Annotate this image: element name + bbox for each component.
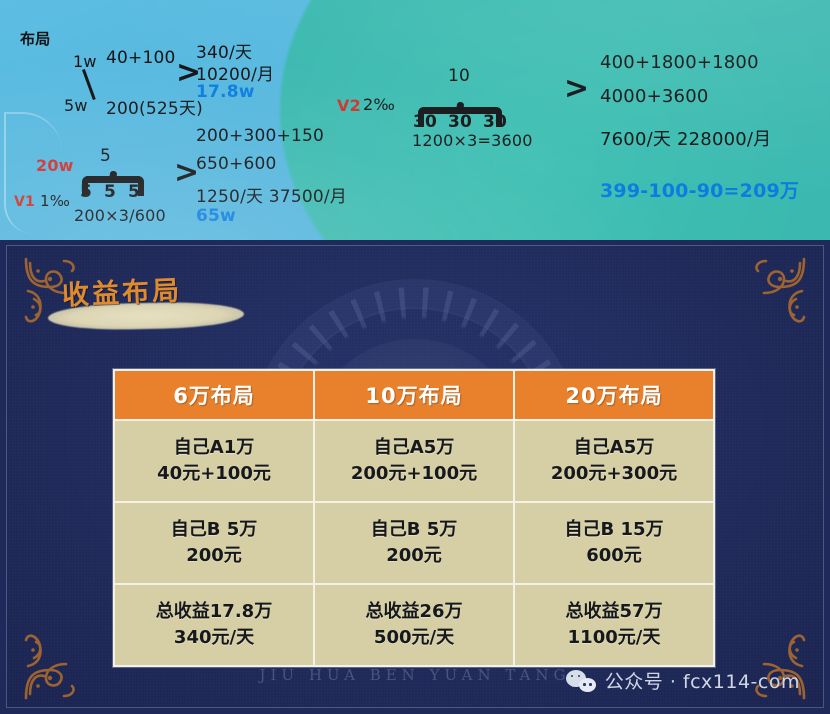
cell-line-2: 200元 <box>319 543 509 569</box>
cell-line-1: 自己A5万 <box>574 437 654 458</box>
g1-result-total: 17.8w <box>196 82 255 102</box>
table-row: 自己A1万 40元+100元 自己A5万 200元+100元 自己A5万 200… <box>114 420 714 502</box>
cell-line-2: 1100元/天 <box>519 625 709 651</box>
corner-ornament-icon <box>20 622 92 704</box>
table-header-cell: 20万布局 <box>514 370 714 420</box>
cell-line-2: 340元/天 <box>119 625 309 651</box>
table-cell: 自己B 15万 600元 <box>514 502 714 584</box>
cell-line-2: 200元+100元 <box>319 461 509 487</box>
g3-bracket <box>418 107 502 127</box>
table-cell: 自己B 5万 200元 <box>314 502 514 584</box>
cell-line-2: 200元 <box>119 543 309 569</box>
g2-result1: 200+300+150 <box>196 126 324 146</box>
g2-result3: 1250/天 37500/月 <box>196 182 347 207</box>
g1-line1: 40+100 <box>106 48 176 68</box>
g3-greater-than: > <box>564 74 589 104</box>
cell-line-1: 总收益26万 <box>365 601 462 622</box>
g3-result-total: 399-100-90=209万 <box>600 176 799 203</box>
g2-rate-label: V1 <box>14 194 35 210</box>
page-title: 收益布局 <box>61 268 183 312</box>
wechat-account-footer: 公众号 · fcx114-com <box>566 667 800 694</box>
table-cell: 总收益26万 500元/天 <box>314 584 514 666</box>
cell-line-1: 自己B 5万 <box>171 519 258 540</box>
g2-line-under: 200×3/600 <box>74 206 166 225</box>
table-cell: 总收益57万 1100元/天 <box>514 584 714 666</box>
whiteboard-photo: 布局 1w 5w 40+100 200(525天) > 340/天 10200/… <box>0 0 830 240</box>
poster-panel: 九华本源堂 JIU HUA BEN YUAN TANG <box>0 240 830 714</box>
g3-result3: 7600/天 228000/月 <box>600 125 771 151</box>
brand-watermark-pinyin: JIU HUA BEN YUAN TANG <box>259 666 570 684</box>
g3-result1: 400+1800+1800 <box>600 52 759 73</box>
cell-line-2: 500元/天 <box>319 625 509 651</box>
g3-result2: 4000+3600 <box>600 86 709 107</box>
cell-line-1: 自己B 5万 <box>371 519 458 540</box>
table-header-cell: 10万布局 <box>314 370 514 420</box>
table-cell: 总收益17.8万 340元/天 <box>114 584 314 666</box>
whiteboard-label: 布局 <box>20 28 50 49</box>
cell-line-1: 总收益57万 <box>565 601 662 622</box>
g1-tier-top: 1w <box>73 52 97 71</box>
g2-amount: 20w <box>36 156 74 175</box>
table-row: 自己B 5万 200元 自己B 5万 200元 自己B 15万 600元 <box>114 502 714 584</box>
corner-ornament-icon <box>738 253 810 335</box>
g1-tier-bottom: 5w <box>64 96 88 115</box>
g2-count: 5 <box>100 146 111 166</box>
table-cell: 自己B 5万 200元 <box>114 502 314 584</box>
g3-rate-label: V2 <box>337 96 361 115</box>
g3-count: 10 <box>448 66 470 86</box>
teal-light-blob <box>280 0 830 240</box>
poster-inner: 九华本源堂 JIU HUA BEN YUAN TANG <box>6 245 824 708</box>
table-header-cell: 6万布局 <box>114 370 314 420</box>
wechat-icon <box>566 670 596 692</box>
wechat-account-label: 公众号 · fcx114-com <box>605 667 800 694</box>
g2-result-total: 65w <box>196 206 236 226</box>
table-cell: 自己A1万 40元+100元 <box>114 420 314 502</box>
g2-result2: 650+600 <box>196 154 277 174</box>
g3-line-under: 1200×3=3600 <box>412 131 533 150</box>
g2-bracket <box>82 176 144 196</box>
g1-line2: 200(525天) <box>106 94 203 119</box>
cell-line-1: 自己A5万 <box>374 437 454 458</box>
table-header-row: 6万布局 10万布局 20万布局 <box>114 370 714 420</box>
g3-rate: 2‰ <box>363 95 395 114</box>
table-cell: 自己A5万 200元+100元 <box>314 420 514 502</box>
cell-line-2: 40元+100元 <box>119 461 309 487</box>
cell-line-2: 200元+300元 <box>519 461 709 487</box>
cell-line-1: 自己A1万 <box>174 437 254 458</box>
cell-line-1: 自己B 15万 <box>564 519 663 540</box>
table-row: 总收益17.8万 340元/天 总收益26万 500元/天 总收益57万 110… <box>114 584 714 666</box>
screenshot-root: 布局 1w 5w 40+100 200(525天) > 340/天 10200/… <box>0 0 830 714</box>
cell-line-2: 600元 <box>519 543 709 569</box>
table-cell: 自己A5万 200元+300元 <box>514 420 714 502</box>
g2-rate: 1‰ <box>40 192 70 210</box>
earnings-table: 6万布局 10万布局 20万布局 自己A1万 40元+100元 自己A5万 20… <box>113 369 715 667</box>
cell-line-1: 总收益17.8万 <box>156 601 272 622</box>
